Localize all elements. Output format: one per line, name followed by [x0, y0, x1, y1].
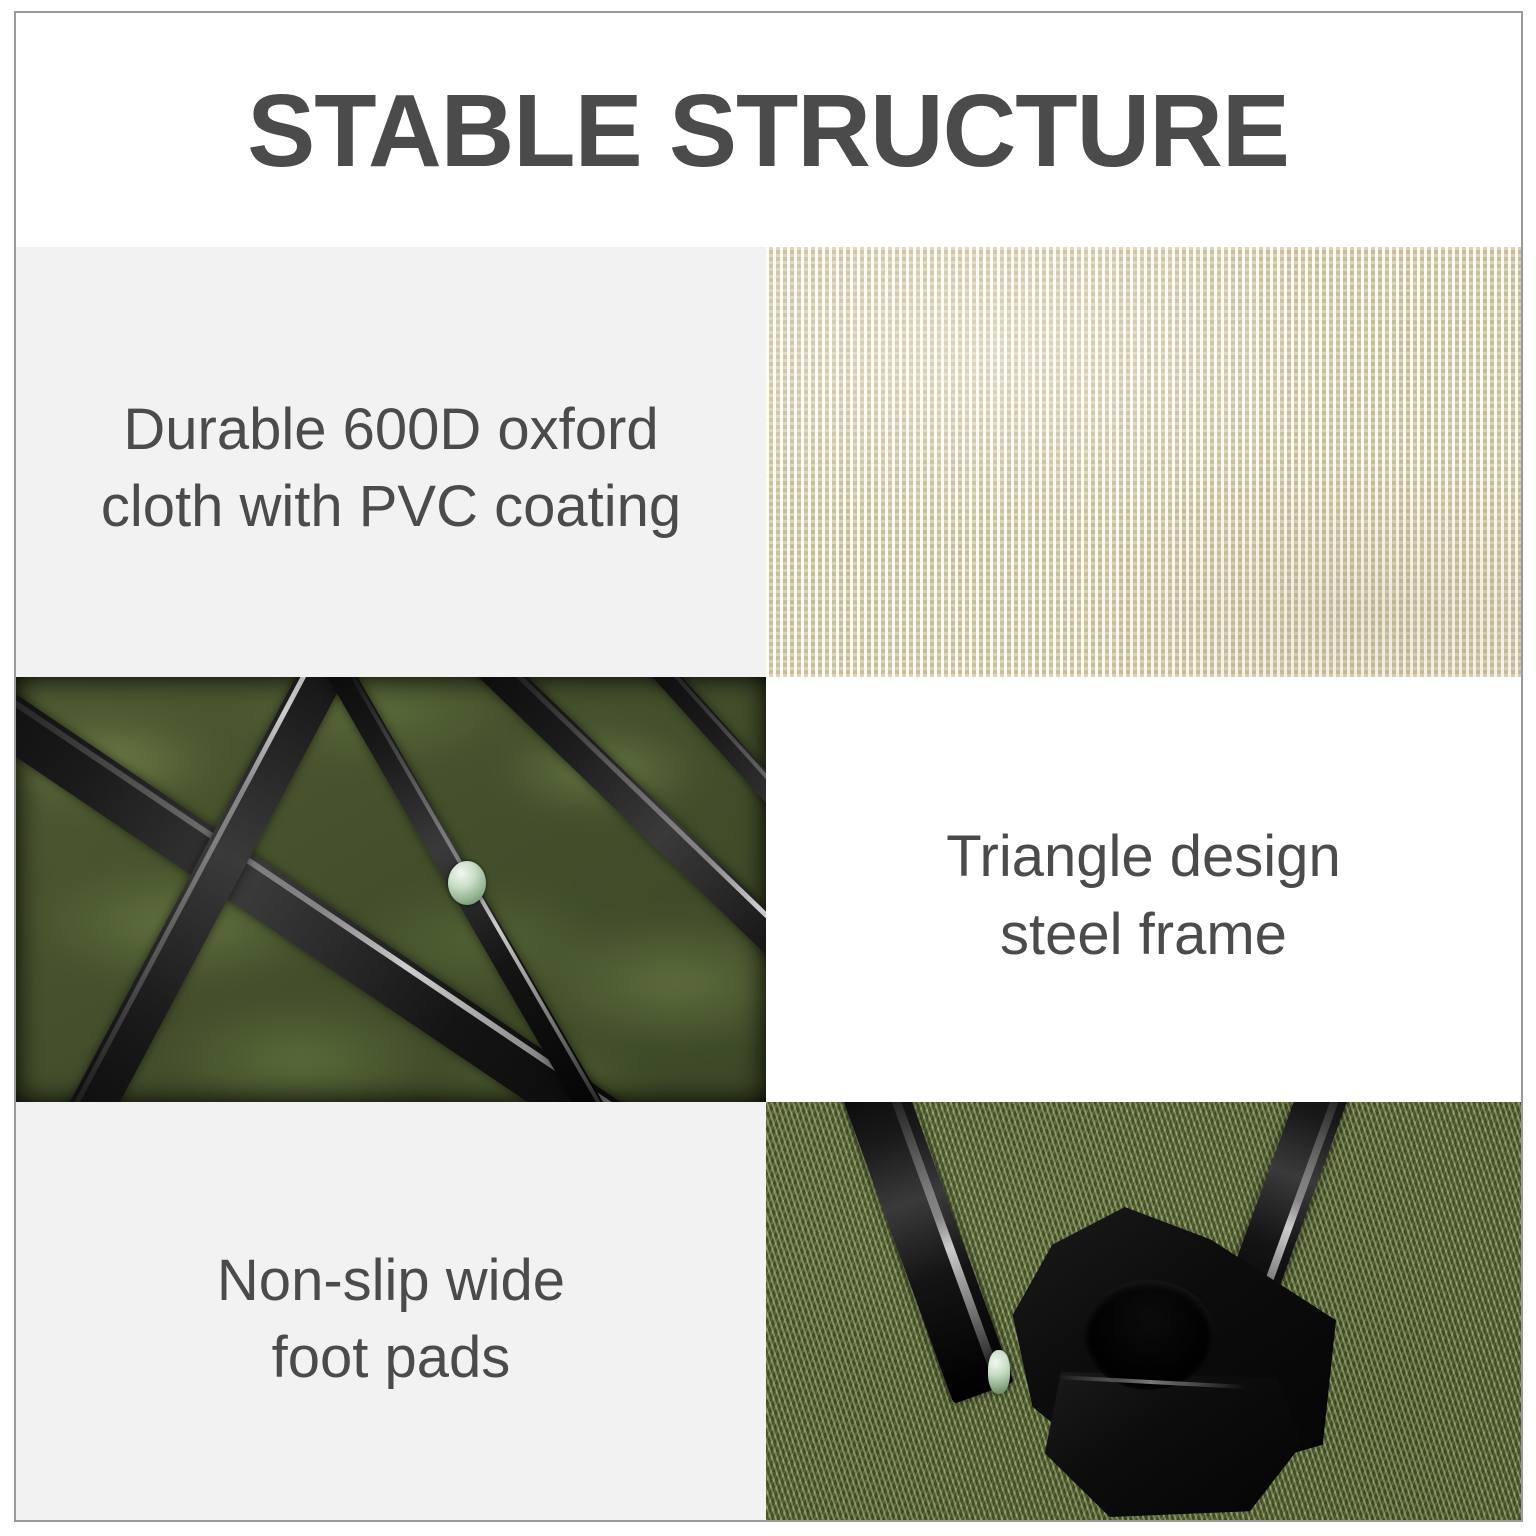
- caption-line-2: steel frame: [946, 896, 1340, 973]
- infographic-frame: STABLE STRUCTURE Durable 600D oxford clo…: [14, 11, 1523, 1522]
- caption-line-1: Non-slip wide: [217, 1242, 565, 1319]
- caption-line-1: Triangle design: [946, 818, 1340, 895]
- header: STABLE STRUCTURE: [16, 13, 1521, 247]
- feature-text-foot-pads: Non-slip wide foot pads: [16, 1102, 766, 1522]
- foot-pad-socket-hole: [1084, 1280, 1214, 1390]
- feature-text-steel-frame: Triangle design steel frame: [766, 677, 1521, 1102]
- caption-line-2: foot pads: [217, 1319, 565, 1396]
- steel-frame-crossbar-photo: [16, 677, 766, 1102]
- joint-rivet-icon: [448, 861, 486, 905]
- foot-pad-rivet-icon: [988, 1350, 1010, 1394]
- feature-text-oxford-cloth: Durable 600D oxford cloth with PVC coati…: [16, 247, 766, 677]
- feature-grid: Durable 600D oxford cloth with PVC coati…: [16, 247, 1521, 1522]
- page-title: STABLE STRUCTURE: [248, 79, 1290, 182]
- oxford-fabric-swatch-photo: [766, 247, 1521, 677]
- caption-line-2: cloth with PVC coating: [101, 468, 681, 545]
- foot-pad-photo: [766, 1102, 1521, 1522]
- caption-line-1: Durable 600D oxford: [101, 391, 681, 468]
